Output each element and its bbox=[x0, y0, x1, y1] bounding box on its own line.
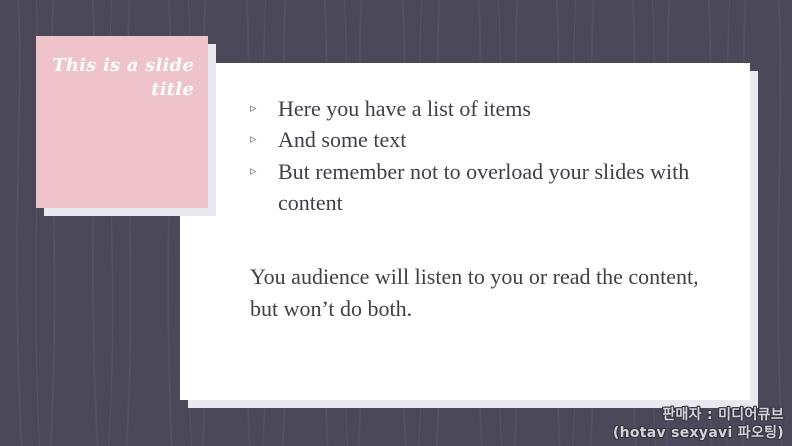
triangle-bullet-icon: ▹ bbox=[250, 124, 278, 149]
page-title-line-1: This is a slide bbox=[50, 54, 194, 78]
triangle-bullet-icon: ▹ bbox=[250, 93, 278, 118]
list-item-label: Here you have a list of items bbox=[278, 93, 728, 124]
page-title: This is a slide title bbox=[50, 54, 194, 102]
page-title-line-2: title bbox=[50, 78, 194, 102]
list-item: ▹ But remember not to overload your slid… bbox=[250, 156, 728, 219]
bullet-list: ▹ Here you have a list of items ▹ And so… bbox=[250, 93, 728, 219]
list-item-label: But remember not to overload your slides… bbox=[278, 156, 728, 219]
slide-canvas: ▹ Here you have a list of items ▹ And so… bbox=[0, 0, 792, 446]
list-item-label: And some text bbox=[278, 124, 728, 155]
watermark-line-2: (hotav sexyavi 파오팅) bbox=[613, 425, 784, 443]
title-card: This is a slide title bbox=[36, 36, 208, 208]
body-paragraph: You audience will listen to you or read … bbox=[250, 261, 712, 325]
list-item: ▹ And some text bbox=[250, 124, 728, 155]
content-card: ▹ Here you have a list of items ▹ And so… bbox=[180, 63, 750, 400]
watermark: 판매자 : 미디어큐브 (hotav sexyavi 파오팅) bbox=[613, 407, 784, 442]
watermark-line-1: 판매자 : 미디어큐브 bbox=[613, 407, 784, 425]
list-item: ▹ Here you have a list of items bbox=[250, 93, 728, 124]
triangle-bullet-icon: ▹ bbox=[250, 156, 278, 181]
